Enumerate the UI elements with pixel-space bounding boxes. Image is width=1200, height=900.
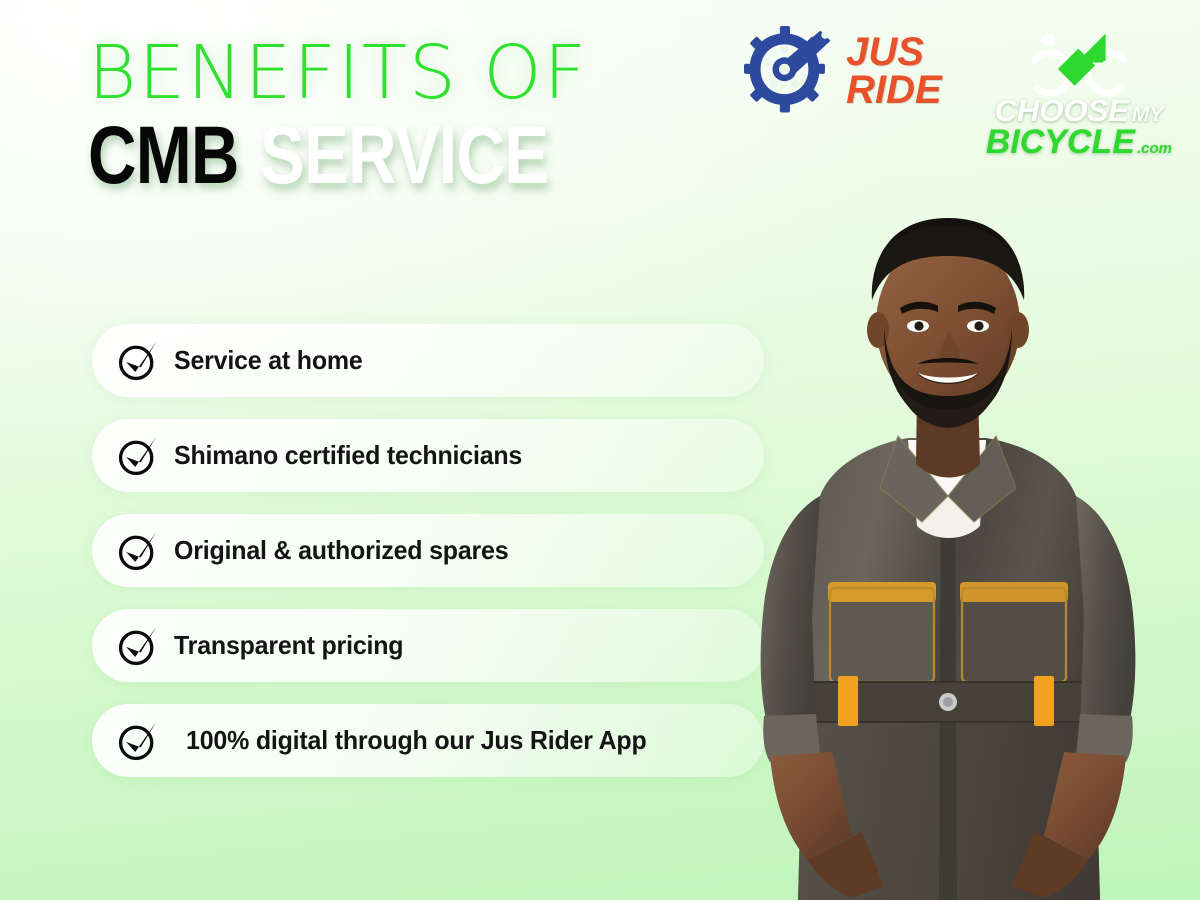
list-item[interactable]: Shimano certified technicians	[92, 419, 764, 492]
benefits-list: Service at home Shimano certified techni…	[92, 324, 764, 799]
my-word: MY	[1132, 103, 1164, 126]
bicycle-arrow-icon	[1015, 24, 1143, 98]
headline-word: SERVICE	[260, 110, 548, 201]
list-item[interactable]: 100% digital through our Jus Rider App	[92, 704, 764, 777]
jusride-line-1: JUS	[846, 34, 942, 72]
jusride-wordmark: JUS RIDE	[846, 34, 942, 109]
check-circle-icon	[116, 719, 160, 763]
page-title: BENEFITS OF CMBSERVICE	[88, 38, 708, 197]
headline-line-2: CMBSERVICE	[88, 116, 596, 196]
chainring-crank-icon	[744, 26, 836, 118]
list-item[interactable]: Service at home	[92, 324, 764, 397]
list-item-label: Original & authorized spares	[174, 535, 508, 566]
check-circle-icon	[116, 624, 160, 668]
check-circle-icon	[116, 434, 160, 478]
choosemybicycle-logo[interactable]: CHOOSEMY BICYCLE.com	[986, 24, 1172, 159]
choosemybicycle-line-2: BICYCLE.com	[986, 126, 1172, 158]
check-circle-icon	[116, 339, 160, 383]
list-item-label: Transparent pricing	[174, 630, 403, 661]
dotcom-suffix: .com	[1137, 140, 1172, 157]
jusride-line-2: RIDE	[846, 72, 942, 110]
bicycle-word: BICYCLE	[986, 123, 1135, 161]
list-item-label: 100% digital through our Jus Rider App	[186, 725, 647, 756]
promo-poster: BENEFITS OF CMBSERVICE	[0, 0, 1200, 900]
headline-line-1: BENEFITS OF	[88, 38, 708, 108]
jusride-logo[interactable]: JUS RIDE	[744, 26, 942, 118]
list-item-label: Shimano certified technicians	[174, 440, 522, 471]
logo-group: JUS RIDE CHOOSEMY BICYC	[744, 26, 1172, 159]
list-item-label: Service at home	[174, 345, 363, 376]
list-item[interactable]: Original & authorized spares	[92, 514, 764, 587]
check-circle-icon	[116, 529, 160, 573]
choosemybicycle-line-1: CHOOSEMY	[994, 96, 1163, 125]
list-item[interactable]: Transparent pricing	[92, 609, 764, 682]
headline-brand: CMB	[88, 110, 239, 201]
smiling-technician-photo	[712, 196, 1182, 900]
